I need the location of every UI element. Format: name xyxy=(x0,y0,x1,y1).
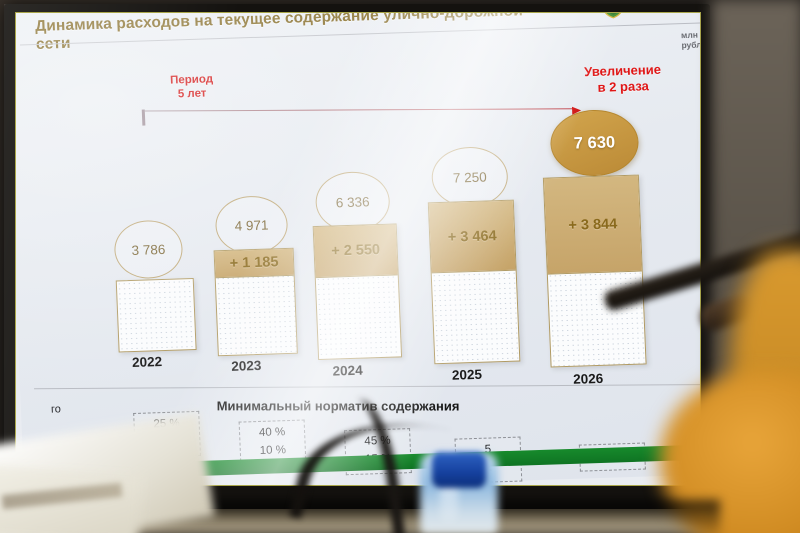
bar-group-2026: + 3 844 xyxy=(543,175,647,368)
norm-box-2022: 25 % 5 % xyxy=(133,411,201,458)
presentation-slide: Динамика расходов на текущее содержание … xyxy=(16,13,700,485)
bar-group-2023: + 1 185 xyxy=(214,248,298,356)
screen-frame: Динамика расходов на текущее содержание … xyxy=(15,12,701,486)
screen: Динамика расходов на текущее содержание … xyxy=(16,13,700,485)
bar-group-2024: + 2 550 xyxy=(313,223,402,360)
bar-group-2022 xyxy=(116,278,197,352)
bar-2023: + 1 185 xyxy=(214,248,298,356)
year-label-2025: 2025 xyxy=(452,367,483,383)
bar-increment-2024: + 2 550 xyxy=(314,224,398,278)
value-bubble-2023: 4 971 xyxy=(214,195,288,255)
photo-scene: Динамика расходов на текущее содержание … xyxy=(0,0,800,533)
norm-top-2024: 45 % xyxy=(352,432,403,451)
norm-section-label: Минимальный норматив содержания xyxy=(217,398,460,413)
bar-2024: + 2 550 xyxy=(313,223,402,360)
bar-increment-2025: + 3 464 xyxy=(429,201,516,274)
monitor: Динамика расходов на текущее содержание … xyxy=(4,4,710,509)
norm-top-2023: 40 % xyxy=(247,424,298,443)
left-text-fragment: го xyxy=(51,403,61,415)
bar-increment-2026: + 3 844 xyxy=(544,176,642,275)
value-bubble-2026: 7 630 xyxy=(549,109,640,178)
year-label-2023: 2023 xyxy=(231,358,262,374)
year-label-2022: 2022 xyxy=(132,354,163,370)
value-bubble-2022: 3 786 xyxy=(113,219,183,279)
bar-group-2025: + 3 464 xyxy=(428,200,521,365)
year-label-2024: 2024 xyxy=(332,363,363,379)
bar-2025: + 3 464 xyxy=(428,200,521,365)
norm-top-2022: 25 % xyxy=(141,415,192,434)
bar-increment-2023: + 1 185 xyxy=(215,249,294,278)
value-bubble-2025: 7 250 xyxy=(431,146,509,208)
bar-chart: 3 786 2022 4 971 xyxy=(16,13,700,485)
bar-2026: + 3 844 xyxy=(543,175,647,368)
bar-2022 xyxy=(116,278,197,352)
norm-bottom-2022: 5 % xyxy=(142,433,193,452)
